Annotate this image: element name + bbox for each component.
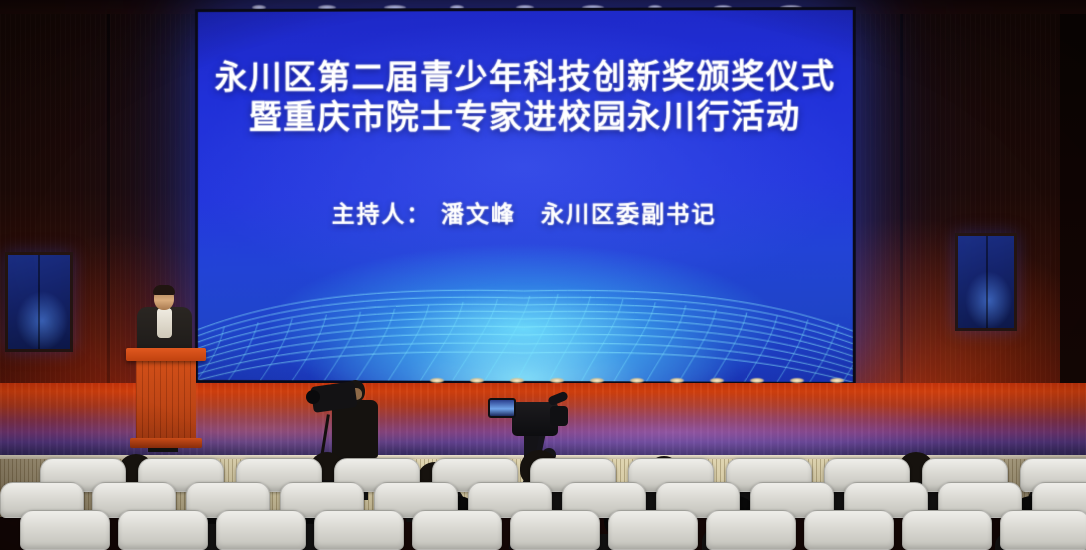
event-title-line-2: 暨重庆市院士专家进校园永川行活动 [198,96,853,137]
right-panel-split [986,236,988,328]
camera-microphone-icon [547,391,569,407]
stage-edge-light [830,378,844,383]
camera-lens-hood-icon [550,406,568,426]
stage-edge-light [470,378,484,383]
stage-edge-light [430,378,444,383]
stage-edge-light [550,378,564,383]
audience-seat [608,510,698,550]
left-wall-led-panel [5,252,73,352]
podium-and-speaker [126,286,206,458]
auditorium-scene: 永川区第二届青少年科技创新奖颁奖仪式 暨重庆市院士专家进校园永川行活动 主持人：… [0,0,1086,550]
podium-base [130,438,202,448]
podium-top-surface [126,348,206,361]
speaker-shirt [157,308,172,338]
audience-seat [804,510,894,550]
stage-edge-light [790,378,804,383]
shoulder-camera-lens-icon [306,390,320,404]
stage-edge-light [630,378,644,383]
audience-seating [0,452,1086,550]
stage-edge-light [750,378,764,383]
stage-edge-light [670,378,684,383]
wall-column-far-right [1060,0,1086,430]
podium-wood-grain [136,360,196,442]
screen-text-block: 永川区第二届青少年科技创新奖颁奖仪式 暨重庆市院士专家进校园永川行活动 主持人：… [198,56,853,229]
audience-seat [510,510,600,550]
audience-seat [118,510,208,550]
left-panel-split [38,255,40,349]
podium-body [136,360,196,442]
event-title-line-1: 永川区第二届青少年科技创新奖颁奖仪式 [198,56,853,97]
audience-seat [1000,510,1086,550]
wireframe-wave-mesh [195,267,856,386]
audience-seat [412,510,502,550]
audience-seat [20,510,110,550]
main-led-screen: 永川区第二届青少年科技创新奖颁奖仪式 暨重庆市院士专家进校园永川行活动 主持人：… [195,7,856,385]
event-host-subtitle: 主持人： 潘文峰 永川区委副书记 [198,195,853,229]
audience-seat [216,510,306,550]
speaker-hair [153,285,175,295]
audience-seat [902,510,992,550]
audience-seat [314,510,404,550]
camera-lcd-screen [488,398,516,418]
audience-seat [706,510,796,550]
stage-edge-light [590,378,604,383]
stage-edge-light [710,378,724,383]
right-wall-led-panel [955,233,1017,331]
stage-edge-light [510,378,524,383]
